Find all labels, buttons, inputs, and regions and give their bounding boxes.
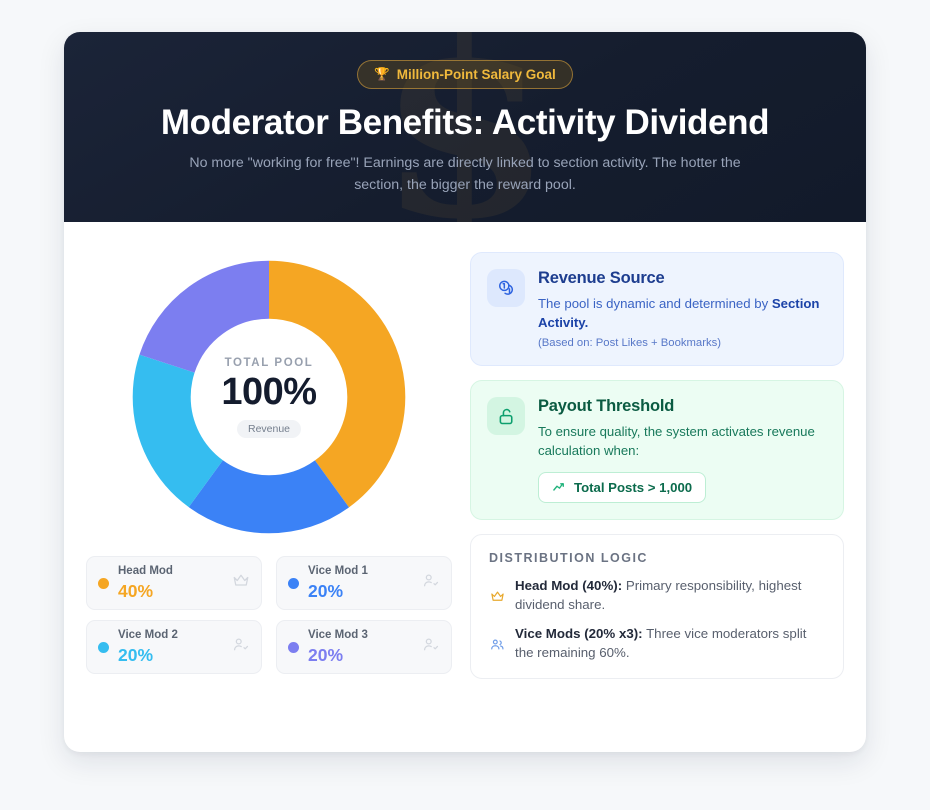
chart-column: TOTAL POOL 100% Revenue Head Mod 40%: [86, 248, 452, 728]
distribution-row-lead: Vice Mods (20% x3):: [515, 626, 643, 641]
legend-item-label: Head Mod: [118, 565, 173, 578]
user-check-icon: [422, 636, 440, 659]
distribution-row-text: Vice Mods (20% x3): Three vice moderator…: [515, 624, 825, 662]
distribution-row-head-mod: Head Mod (40%): Primary responsibility, …: [489, 576, 825, 614]
legend-item-percent: 20%: [308, 645, 368, 665]
legend-color-dot: [98, 642, 109, 653]
payout-threshold-title: Payout Threshold: [538, 397, 825, 416]
badge-label: Million-Point Salary Goal: [397, 67, 556, 82]
card-body: TOTAL POOL 100% Revenue Head Mod 40%: [64, 222, 866, 752]
legend-item-percent: 20%: [118, 645, 178, 665]
distribution-logic-card: DISTRIBUTION LOGIC Head Mod (40%): Prima…: [470, 534, 844, 680]
legend-item-label: Vice Mod 1: [308, 565, 368, 578]
threshold-pill[interactable]: Total Posts > 1,000: [538, 472, 706, 503]
user-check-icon: [422, 572, 440, 595]
revenue-source-desc-plain: The pool is dynamic and determined by: [538, 296, 772, 311]
legend-item-vice-mod-3[interactable]: Vice Mod 3 20%: [276, 620, 452, 674]
main-card: $ 🏆 Million-Point Salary Goal Moderator …: [64, 32, 866, 752]
legend-item-vice-mod-2[interactable]: Vice Mod 2 20%: [86, 620, 262, 674]
page-title: Moderator Benefits: Activity Dividend: [161, 103, 769, 143]
legend-grid: Head Mod 40% Vice Mod 1 20%: [86, 556, 452, 674]
legend-item-percent: 20%: [308, 581, 368, 601]
info-column: Revenue Source The pool is dynamic and d…: [470, 248, 844, 728]
distribution-row-lead: Head Mod (40%):: [515, 578, 622, 593]
donut-svg: [124, 252, 414, 542]
legend-item-percent: 40%: [118, 581, 173, 601]
salary-goal-badge[interactable]: 🏆 Million-Point Salary Goal: [357, 60, 573, 89]
revenue-source-card: Revenue Source The pool is dynamic and d…: [470, 252, 844, 366]
distribution-row-vice-mods: Vice Mods (20% x3): Three vice moderator…: [489, 624, 825, 662]
legend-item-vice-mod-1[interactable]: Vice Mod 1 20%: [276, 556, 452, 610]
trophy-icon: 🏆: [374, 68, 390, 81]
user-check-icon: [232, 636, 250, 659]
legend-color-dot: [288, 642, 299, 653]
trending-up-icon: [552, 480, 567, 495]
payout-threshold-desc: To ensure quality, the system activates …: [538, 422, 825, 460]
donut-chart: TOTAL POOL 100% Revenue: [124, 252, 414, 542]
revenue-source-title: Revenue Source: [538, 269, 825, 288]
legend-item-label: Vice Mod 2: [118, 629, 178, 642]
page-subtitle: No more "working for free"! Earnings are…: [165, 152, 765, 196]
coins-icon: [487, 269, 525, 307]
unlock-icon: [487, 397, 525, 435]
distribution-row-text: Head Mod (40%): Primary responsibility, …: [515, 576, 825, 614]
payout-threshold-card: Payout Threshold To ensure quality, the …: [470, 380, 844, 519]
legend-item-label: Vice Mod 3: [308, 629, 368, 642]
revenue-source-desc: The pool is dynamic and determined by Se…: [538, 294, 825, 332]
revenue-source-note: (Based on: Post Likes + Bookmarks): [538, 337, 825, 349]
legend-color-dot: [288, 578, 299, 589]
hero-header: $ 🏆 Million-Point Salary Goal Moderator …: [64, 32, 866, 222]
crown-icon: [232, 572, 250, 595]
legend-color-dot: [98, 578, 109, 589]
legend-item-head-mod[interactable]: Head Mod 40%: [86, 556, 262, 610]
distribution-logic-title: DISTRIBUTION LOGIC: [489, 551, 825, 565]
users-icon: [489, 624, 505, 662]
crown-icon: [489, 576, 505, 614]
page-background: $ 🏆 Million-Point Salary Goal Moderator …: [0, 0, 930, 810]
threshold-pill-label: Total Posts > 1,000: [574, 480, 692, 495]
